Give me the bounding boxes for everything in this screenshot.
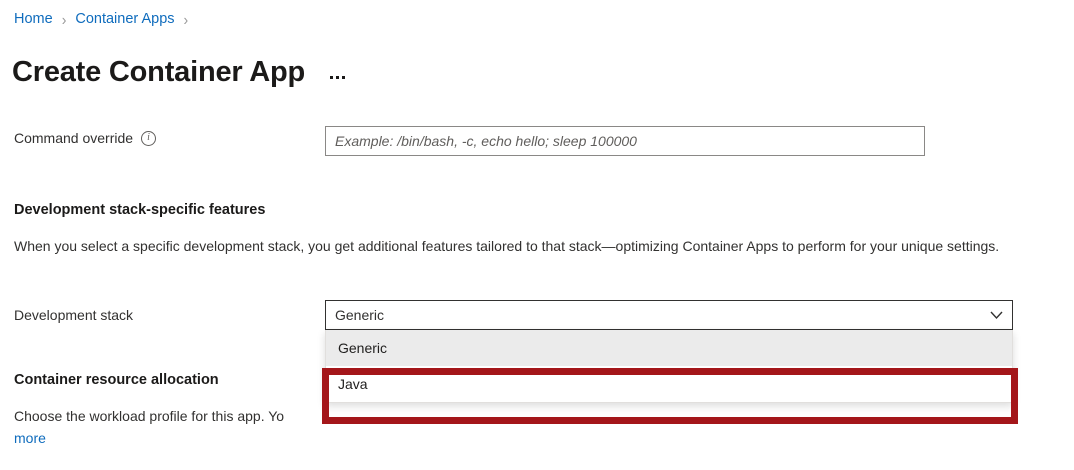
resource-section-description: Choose the workload profile for this app… [14, 406, 1014, 427]
ellipsis-dot-1 [330, 76, 333, 79]
command-override-label-text: Command override [14, 130, 133, 146]
resource-section-heading: Container resource allocation [14, 372, 219, 388]
ellipsis-dot-2 [336, 76, 339, 79]
breadcrumb-separator-1: › [62, 10, 67, 28]
breadcrumb-item-home[interactable]: Home [14, 11, 53, 27]
more-options-icon[interactable] [327, 72, 348, 83]
resource-description-more-line: more [14, 428, 46, 449]
breadcrumb: Home › Container Apps › [14, 8, 197, 30]
development-stack-selected-value: Generic [326, 307, 980, 323]
breadcrumb-item-container-apps[interactable]: Container Apps [75, 11, 174, 27]
development-stack-combobox[interactable]: Generic [325, 300, 1013, 330]
page-header: Create Container App [12, 38, 348, 109]
ellipsis-dot-3 [342, 76, 345, 79]
command-override-label: Command override i [14, 130, 156, 146]
dev-stack-section-description: When you select a specific development s… [14, 236, 1014, 257]
chevron-down-icon[interactable] [980, 311, 1012, 320]
development-stack-label: Development stack [14, 307, 133, 323]
command-override-input[interactable] [325, 126, 925, 156]
info-icon[interactable]: i [141, 131, 156, 146]
dropdown-option-java[interactable]: Java [326, 366, 1012, 402]
dropdown-option-generic[interactable]: Generic [326, 330, 1012, 366]
dev-stack-section-heading: Development stack-specific features [14, 202, 265, 218]
learn-more-link[interactable]: more [14, 430, 46, 446]
breadcrumb-separator-2: › [184, 10, 189, 28]
development-stack-dropdown-list[interactable]: Generic Java [325, 330, 1013, 403]
resource-description-text: Choose the workload profile for this app… [14, 408, 284, 424]
page-title: Create Container App [12, 57, 305, 89]
